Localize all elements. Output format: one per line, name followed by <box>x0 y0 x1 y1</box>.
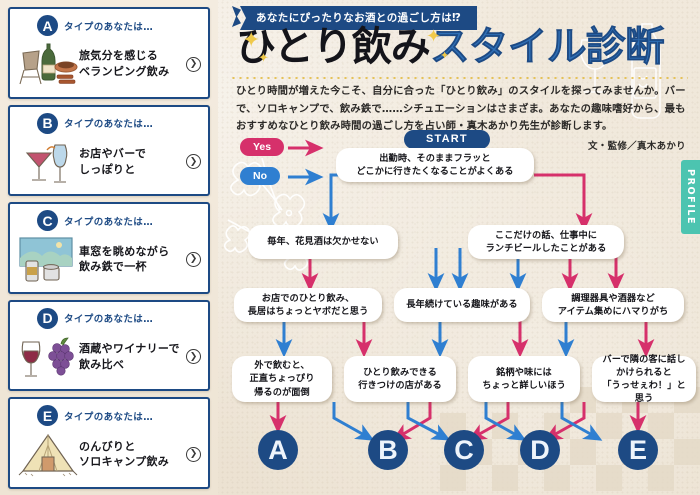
question-box-q10[interactable]: バーで隣の客に話し かけられると 「うっせぇわ！」と思う <box>592 356 696 402</box>
page-title: ひとり飲み スタイル診断 <box>236 27 664 67</box>
q5-line-1: 長年続けている趣味がある <box>406 298 517 311</box>
q3-line-1: ここだけの話、仕事中に <box>486 229 607 242</box>
card-line-2: 飲み鉄で一杯 <box>79 259 184 275</box>
type-badge-b: B <box>37 113 58 134</box>
card-header: B タイプのあなたは… <box>37 113 201 134</box>
card-header: C タイプのあなたは… <box>37 210 201 231</box>
sparkle-icon: ✦ <box>426 28 441 46</box>
train-window-canned-drink-icon <box>17 234 79 284</box>
result-circle-c[interactable]: C <box>444 430 484 470</box>
card-line-1: お店やバーで <box>79 146 184 162</box>
result-circle-e[interactable]: E <box>618 430 658 470</box>
q3-line-2: ランチビールしたことがある <box>486 242 607 255</box>
card-subtitle: タイプのあなたは… <box>64 116 153 130</box>
card-subtitle: タイプのあなたは… <box>64 19 153 33</box>
flowchart: Yes No START 出勤時、そのままフラッと どこかに行きたくなることがよ… <box>218 130 700 495</box>
sparkle-icon: ✦ <box>242 30 260 52</box>
legend-no-pill: No <box>240 167 280 185</box>
chevron-right-icon[interactable]: ❯ <box>186 349 201 364</box>
question-box-q5[interactable]: 長年続けている趣味がある <box>394 288 530 322</box>
card-line-2: 飲み比べ <box>79 357 184 373</box>
question-box-q3[interactable]: ここだけの話、仕事中に ランチビールしたことがある <box>468 225 624 259</box>
q2-line-1: 毎年、花見酒は欠かせない <box>267 235 378 248</box>
card-text: 車窓を眺めながら 飲み鉄で一杯 <box>79 244 184 275</box>
q4-line-2: 長居はちょっとヤボだと思う <box>248 305 369 318</box>
chevron-right-icon[interactable]: ❯ <box>186 447 201 462</box>
dotted-divider <box>230 76 688 80</box>
result-circle-b[interactable]: B <box>368 430 408 470</box>
type-card-e[interactable]: E タイプのあなたは… のんびりと ソロキャンプ飲み ❯ <box>8 397 210 489</box>
card-header: E タイプのあなたは… <box>37 405 201 426</box>
question-box-q4[interactable]: お店でのひとり飲み、 長居はちょっとヤボだと思う <box>234 288 382 322</box>
q10-line-3: 「うっせぇわ！」と思う <box>598 379 690 405</box>
wine-glass-grapes-icon <box>17 332 79 382</box>
chevron-right-icon[interactable]: ❯ <box>186 252 201 267</box>
question-box-q8[interactable]: ひとり飲みできる 行きつけの店がある <box>344 356 456 402</box>
question-box-q9[interactable]: 銘柄や味には ちょっと詳しいほう <box>468 356 580 402</box>
card-body: 旅気分を感じる ベランピング飲み ❯ <box>17 38 201 90</box>
q7-line-3: 帰るのが面倒 <box>249 386 314 399</box>
q1-line-1: 出勤時、そのままフラッと <box>356 152 513 165</box>
card-body: 酒蔵やワイナリーで 飲み比べ ❯ <box>17 331 201 383</box>
type-badge-a: A <box>37 15 58 36</box>
card-text: のんびりと ソロキャンプ飲み <box>79 439 184 470</box>
q8-line-1: ひとり飲みできる <box>358 366 442 379</box>
card-line-1: のんびりと <box>79 439 184 455</box>
card-line-2: ベランピング飲み <box>79 64 184 80</box>
q10-line-1: バーで隣の客に話し <box>598 353 690 366</box>
card-subtitle: タイプのあなたは… <box>64 311 153 325</box>
q9-line-2: ちょっと詳しいほう <box>482 379 566 392</box>
q6-line-1: 調理器具や酒器など <box>558 292 669 305</box>
card-header: D タイプのあなたは… <box>37 308 201 329</box>
card-subtitle: タイプのあなたは… <box>64 214 153 228</box>
q10-line-2: かけられると <box>598 366 690 379</box>
question-box-q6[interactable]: 調理器具や酒器など アイテム集めにハマりがち <box>542 288 684 322</box>
tent-icon <box>17 429 79 479</box>
title-part-blue: スタイル診断 <box>430 27 664 67</box>
q7-line-1: 外で飲むと、 <box>249 359 314 372</box>
card-body: 車窓を眺めながら 飲み鉄で一杯 ❯ <box>17 233 201 285</box>
card-text: 酒蔵やワイナリーで 飲み比べ <box>79 341 184 372</box>
start-badge: START <box>404 130 490 149</box>
card-line-2: ソロキャンプ飲み <box>79 454 184 470</box>
chevron-right-icon[interactable]: ❯ <box>186 57 201 72</box>
card-line-1: 車窓を眺めながら <box>79 244 184 260</box>
type-card-b[interactable]: B タイプのあなたは… お店やバーで しっぽりと ❯ <box>8 105 210 197</box>
card-header: A タイプのあなたは… <box>37 15 201 36</box>
page-root: A タイプのあなたは… <box>0 0 700 495</box>
result-circle-a[interactable]: A <box>258 430 298 470</box>
card-line-1: 旅気分を感じる <box>79 48 184 64</box>
lead-paragraph: ひとり時間が増えた今こそ、自分に合った「ひとり飲み」のスタイルを探ってみませんか… <box>236 83 688 136</box>
type-cards-sidebar: A タイプのあなたは… <box>0 0 218 495</box>
question-box-q2[interactable]: 毎年、花見酒は欠かせない <box>248 225 398 259</box>
result-circle-d[interactable]: D <box>520 430 560 470</box>
type-badge-d: D <box>37 308 58 329</box>
sparkle-icon: ✦ <box>258 52 269 65</box>
type-badge-c: C <box>37 210 58 231</box>
q6-line-2: アイテム集めにハマりがち <box>558 305 669 318</box>
type-card-d[interactable]: D タイプのあなたは… <box>8 300 210 392</box>
type-badge-e: E <box>37 405 58 426</box>
q4-line-1: お店でのひとり飲み、 <box>248 292 369 305</box>
card-line-1: 酒蔵やワイナリーで <box>79 341 184 357</box>
chevron-right-icon[interactable]: ❯ <box>186 154 201 169</box>
card-text: お店やバーで しっぽりと <box>79 146 184 177</box>
sparkle-icon: ✦ <box>440 50 449 61</box>
q1-line-2: どこかに行きたくなることがよくある <box>356 165 513 178</box>
card-body: お店やバーで しっぽりと ❯ <box>17 136 201 188</box>
camping-chair-wine-bbq-icon <box>17 39 79 89</box>
q8-line-2: 行きつけの店がある <box>358 379 442 392</box>
q9-line-1: 銘柄や味には <box>482 366 566 379</box>
legend-yes-pill: Yes <box>240 138 284 156</box>
type-card-c[interactable]: C タイプのあなたは… 車窓を眺めながら 飲み鉄で一杯 <box>8 202 210 294</box>
q7-line-2: 正直ちょっぴり <box>249 372 314 385</box>
card-subtitle: タイプのあなたは… <box>64 409 153 423</box>
card-line-2: しっぽりと <box>79 162 184 178</box>
question-box-q7[interactable]: 外で飲むと、 正直ちょっぴり 帰るのが面倒 <box>232 356 332 402</box>
card-body: のんびりと ソロキャンプ飲み ❯ <box>17 428 201 480</box>
main-content: あなたにぴったりなお酒との過ごし方は⁉ ひとり飲み スタイル診断 ✦ ✦ ✦ ✦… <box>218 0 700 495</box>
cocktail-champagne-glasses-icon <box>17 137 79 187</box>
question-box-q1[interactable]: 出勤時、そのままフラッと どこかに行きたくなることがよくある <box>336 148 534 182</box>
type-card-a[interactable]: A タイプのあなたは… <box>8 7 210 99</box>
card-text: 旅気分を感じる ベランピング飲み <box>79 48 184 79</box>
